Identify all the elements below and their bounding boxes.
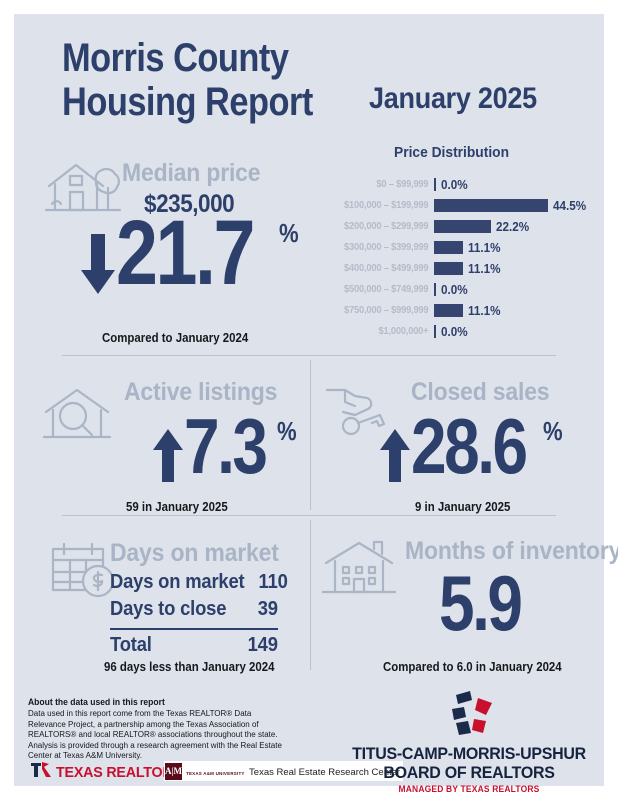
chart-bar (434, 199, 548, 212)
arrow-up-icon (152, 428, 184, 489)
chart-bar (434, 325, 436, 338)
days-on-market-footnote: 96 days less than January 2024 (104, 659, 274, 674)
chart-value-label: 0.0% (441, 282, 468, 297)
arrow-up-icon (379, 428, 411, 489)
total-label: Total (110, 634, 152, 657)
page-title: Morris County Housing Report (62, 36, 313, 124)
chart-row: $1,000,000+ 0.0% (326, 321, 601, 342)
chart-bar-track: 11.1% (434, 258, 601, 279)
active-listings-panel: Active listings 7.3 % 59 in January 2025 (14, 370, 310, 528)
table-row: Days on market 110 (110, 571, 278, 598)
divider-horizontal-top (62, 355, 556, 356)
median-price-percent-sign: % (279, 218, 299, 249)
chart-row: $500,000 – $749,999 0.0% (326, 279, 601, 300)
table-row: Days to close 39 (110, 598, 278, 625)
house-search-icon (42, 384, 114, 449)
median-price-panel: Median price $235,000 21.7 % Compared to… (14, 144, 314, 354)
chart-row: $400,000 – $499,999 11.1% (326, 258, 601, 279)
days-to-close-value: 39 (258, 598, 278, 621)
chart-row: $750,000 – $999,999 11.1% (326, 300, 601, 321)
closed-sales-change-value: 28.6 (411, 410, 526, 482)
table-row-total: Total 149 (110, 634, 278, 661)
chart-bar-track: 22.2% (434, 216, 601, 237)
tamu-university-line: TEXAS A&M UNIVERSITY (186, 771, 245, 776)
chart-value-label: 0.0% (441, 324, 468, 339)
board-managed-by-line: MANAGED BY TEXAS REALTORS (352, 784, 587, 794)
median-price-heading: Median price (122, 159, 260, 188)
chart-category-label: $1,000,000+ (334, 326, 434, 337)
housing-report-page: Morris County Housing Report January 202… (0, 0, 618, 800)
board-name-line-1: TITUS-CAMP-MORRIS-UPSHUR (352, 744, 587, 763)
texas-realtors-label: TEXAS REALTORS (56, 764, 182, 781)
chart-bar (434, 283, 436, 296)
chart-row: $200,000 – $299,999 22.2% (326, 216, 601, 237)
calendar-dollar-icon (50, 541, 118, 604)
months-of-inventory-panel: Months of inventory 5.9 Compared to 6.0 … (311, 529, 604, 687)
days-on-market-table: Days on market 110 Days to close 39 Tota… (110, 571, 278, 661)
chart-bar (434, 241, 463, 254)
days-to-close-label: Days to close (110, 598, 226, 621)
report-canvas: Morris County Housing Report January 202… (14, 14, 604, 786)
about-data-body: Data used in this report come from the T… (28, 709, 284, 762)
chart-value-label: 0.0% (441, 177, 468, 192)
months-of-inventory-value: 5.9 (439, 567, 521, 639)
chart-category-label: $200,000 – $299,999 (334, 221, 434, 232)
chart-row: $300,000 – $399,999 11.1% (326, 237, 601, 258)
chart-category-label: $500,000 – $749,999 (334, 284, 434, 295)
texas-realtors-mark-icon (30, 761, 52, 783)
active-listings-percent-sign: % (277, 416, 297, 447)
active-listings-footnote: 59 in January 2025 (126, 499, 228, 514)
chart-row: $0 – $99,999 0.0% (326, 174, 601, 195)
chart-row: $100,000 – $199,999 44.5% (326, 195, 601, 216)
median-price-footnote: Compared to January 2024 (102, 330, 248, 345)
chart-value-label: 11.1% (468, 240, 501, 255)
days-on-market-panel: Days on market Days on market 110 Days t… (14, 529, 310, 687)
days-on-market-heading: Days on market (110, 539, 279, 568)
closed-sales-panel: Closed sales 28.6 % 9 in January 2025 (311, 370, 604, 528)
days-on-market-label: Days on market (110, 571, 244, 594)
chart-value-label: 11.1% (468, 261, 501, 276)
chart-bar-track: 11.1% (434, 237, 601, 258)
price-distribution-chart: $0 – $99,999 0.0% $100,000 – $199,999 44… (326, 174, 601, 342)
active-listings-change: 7.3 % (152, 410, 301, 489)
chart-category-label: $0 – $99,999 (334, 179, 434, 190)
chart-bar-track: 44.5% (434, 195, 601, 216)
apartment-building-icon (321, 539, 397, 604)
closed-sales-change: 28.6 % (379, 410, 566, 489)
chart-bar (434, 220, 491, 233)
closed-sales-footnote: 9 in January 2025 (415, 499, 510, 514)
chart-bar-track: 0.0% (434, 279, 601, 300)
chart-value-label: 44.5% (553, 198, 586, 213)
chart-bar-track: 11.1% (434, 300, 601, 321)
chart-bar (434, 178, 436, 191)
chart-category-label: $300,000 – $399,999 (334, 242, 434, 253)
report-month: January 2025 (369, 82, 537, 116)
chart-bar (434, 304, 463, 317)
table-total-rule (110, 628, 278, 630)
chart-category-label: $100,000 – $199,999 (334, 200, 434, 211)
active-listings-change-value: 7.3 (184, 410, 266, 482)
report-footer: About the data used in this report Data … (14, 687, 604, 786)
pinwheel-mark-icon (426, 726, 512, 743)
chart-value-label: 22.2% (496, 219, 529, 234)
months-of-inventory-footnote: Compared to 6.0 in January 2024 (383, 659, 562, 674)
chart-bar-track: 0.0% (434, 174, 601, 195)
chart-bar (434, 262, 463, 275)
tamu-mark-icon: A|M (165, 763, 182, 780)
price-distribution-title: Price Distribution (394, 144, 509, 161)
chart-bar-track: 0.0% (434, 321, 601, 342)
closed-sales-percent-sign: % (543, 416, 563, 447)
title-line-1: Morris County (62, 36, 288, 80)
total-value: 149 (248, 634, 278, 657)
chart-category-label: $400,000 – $499,999 (334, 263, 434, 274)
title-line-2: Housing Report (62, 80, 313, 124)
about-data-title: About the data used in this report (28, 697, 165, 707)
report-header: Morris County Housing Report January 202… (14, 14, 604, 132)
median-price-change-value: 21.7 (116, 210, 253, 296)
board-name-line-2: BOARD OF REALTORS (352, 763, 587, 782)
chart-value-label: 11.1% (468, 303, 501, 318)
arrow-down-icon (80, 234, 116, 301)
days-on-market-value: 110 (259, 571, 288, 594)
median-price-change: 21.7 % (80, 210, 302, 301)
chart-category-label: $750,000 – $999,999 (334, 305, 434, 316)
board-of-realtors-logo: TITUS-CAMP-MORRIS-UPSHUR BOARD OF REALTO… (344, 689, 594, 794)
